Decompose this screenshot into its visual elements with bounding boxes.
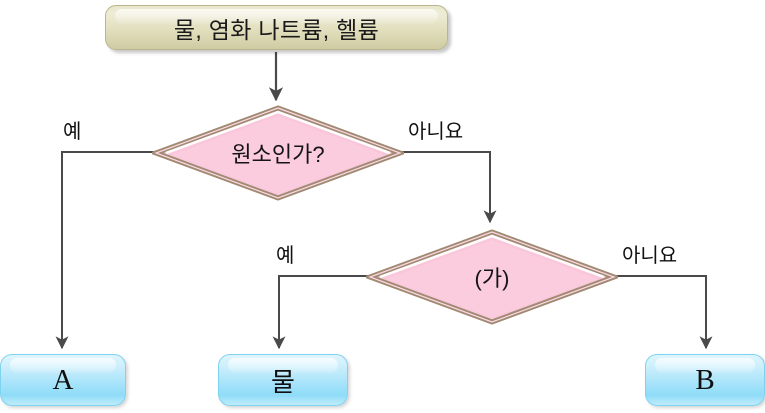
- decision-node-element-label: 원소인가?: [152, 137, 404, 169]
- result-node-b: B: [645, 354, 765, 406]
- edge-decision1-no-to-decision2: [398, 152, 490, 222]
- result-node-b-label: B: [695, 364, 714, 397]
- edge-label-decision2-no: 아니요: [622, 239, 677, 268]
- source-node: 물, 염화 나트륨, 헬륨: [105, 5, 448, 50]
- connector-lines: [0, 0, 765, 413]
- result-node-water: 물: [218, 354, 348, 406]
- result-node-a: A: [0, 354, 126, 406]
- flowchart-canvas: 물, 염화 나트륨, 헬륨 원소인가? (가) 예 아니요 예 아니요 A 물 …: [0, 0, 765, 413]
- edge-label-decision1-no: 아니요: [408, 115, 463, 144]
- edge-label-decision1-yes: 예: [63, 115, 81, 144]
- edge-decision1-yes-to-a: [62, 152, 158, 348]
- decision-node-element-text: 원소인가?: [152, 104, 404, 202]
- decision-node-ga-label: (가): [366, 261, 618, 293]
- result-node-water-label: 물: [271, 362, 295, 399]
- edge-decision2-no-to-b: [612, 276, 706, 348]
- edge-decision2-yes-to-water: [279, 276, 372, 348]
- source-node-label: 물, 염화 나트륨, 헬륨: [174, 11, 379, 45]
- result-node-a-label: A: [53, 364, 74, 397]
- edge-label-decision2-yes: 예: [276, 239, 294, 268]
- decision-node-ga-text: (가): [366, 228, 618, 326]
